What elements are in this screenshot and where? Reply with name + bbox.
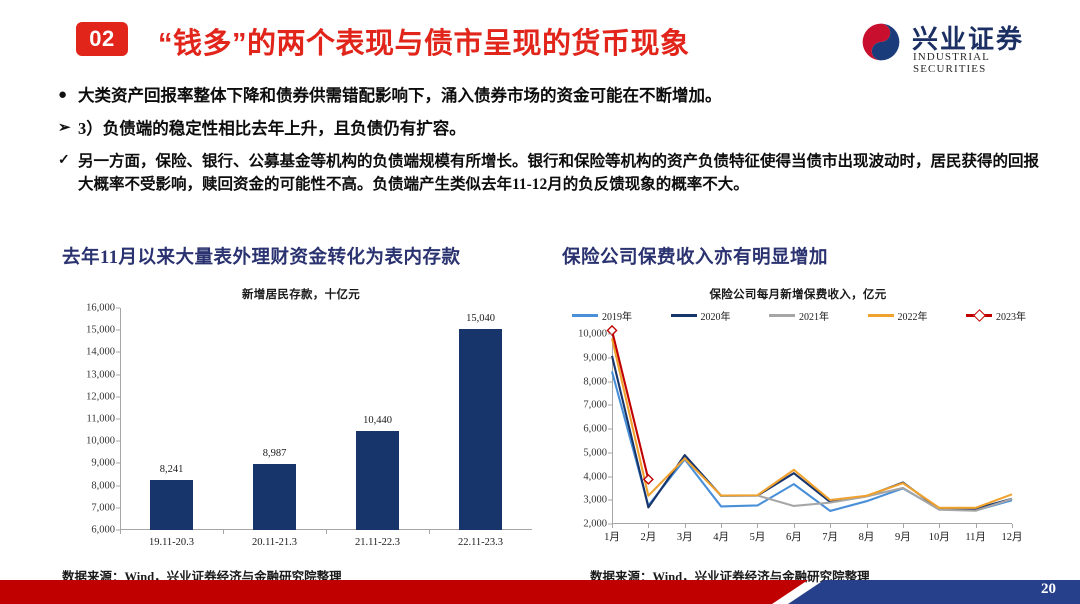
line-chart-plot-area: 2,0003,0004,0005,0006,0007,0008,0009,000…: [612, 334, 1012, 524]
page-number: 20: [1041, 581, 1056, 598]
line-chart-y-tick-mark: [608, 381, 612, 382]
line-chart-y-tick-label: 6,000: [583, 424, 607, 435]
legend-label: 2019年: [602, 308, 632, 323]
line-chart-x-tick-mark: [612, 524, 613, 528]
line-series-2019年: [612, 372, 1012, 511]
legend-label: 2023年: [996, 308, 1026, 323]
legend-item: 2020年: [671, 308, 731, 323]
bar: [253, 464, 296, 530]
bar-chart-y-tick-mark: [116, 507, 120, 508]
bar-chart-y-tick-label: 16,000: [86, 303, 115, 314]
deposits-bar-chart: 新增居民存款，十亿元 6,0007,0008,0009,00010,00011,…: [58, 282, 544, 560]
bar-chart-y-tick-label: 15,000: [86, 325, 115, 336]
bar-chart-x-tick-label: 20.11-21.3: [252, 537, 297, 548]
bar-value-label: 10,440: [363, 415, 392, 426]
line-chart-y-tick-mark: [608, 476, 612, 477]
line-chart-y-tick-label: 10,000: [578, 329, 607, 340]
line-chart-x-tick-label: 9月: [895, 529, 911, 544]
line-chart-y-tick-label: 4,000: [583, 471, 607, 482]
line-chart-x-tick-mark: [721, 524, 722, 528]
bar-chart-y-tick-mark: [116, 330, 120, 331]
bar: [459, 329, 502, 530]
footer-band: [0, 580, 1080, 604]
line-chart-x-tick-mark: [976, 524, 977, 528]
bar-value-label: 8,241: [160, 464, 184, 475]
bar-chart-y-tick-label: 12,000: [86, 391, 115, 402]
bullet-text: 另一方面，保险、银行、公募基金等机构的负债端规模有所增长。银行和保险等机构的资产…: [78, 150, 1043, 197]
bar: [150, 480, 193, 530]
line-chart-x-tick-label: 1月: [604, 529, 620, 544]
bar-chart-y-axis: [120, 308, 121, 530]
legend-item: 2021年: [769, 308, 829, 323]
line-chart-y-tick-label: 3,000: [583, 495, 607, 506]
line-chart-x-tick-mark: [685, 524, 686, 528]
bar-chart-y-tick-mark: [116, 419, 120, 420]
bar-value-label: 8,987: [263, 448, 287, 459]
line-chart-x-tick-label: 10月: [929, 529, 950, 544]
line-chart-x-tick-mark: [867, 524, 868, 528]
line-chart-x-tick-label: 5月: [750, 529, 766, 544]
line-chart-x-tick-label: 12月: [1002, 529, 1023, 544]
bullet-item: ● 大类资产回报率整体下降和债券供需错配影响下，涌入债券市场的资金可能在不断增加…: [58, 84, 1058, 108]
line-chart-x-tick-mark: [648, 524, 649, 528]
bar-chart-x-tick-mark: [120, 530, 121, 534]
line-series-2022年: [612, 338, 1012, 508]
line-chart-legend: 2019年2020年2021年2022年2023年: [564, 308, 1034, 323]
bar-chart-y-tick-mark: [116, 485, 120, 486]
logo-text-en: INDUSTRIAL SECURITIES: [913, 51, 1060, 75]
line-chart-y-tick-mark: [608, 334, 612, 335]
line-chart-y-tick-mark: [608, 452, 612, 453]
legend-item: 2019年: [572, 308, 632, 323]
bar-chart-y-tick-label: 9,000: [91, 458, 115, 469]
page-title: “钱多”的两个表现与债市呈现的货币现象: [158, 20, 690, 62]
bullet-item: ✓ 另一方面，保险、银行、公募基金等机构的负债端规模有所增长。银行和保险等机构的…: [58, 150, 1058, 197]
right-chart-heading: 保险公司保费收入亦有明显增加: [562, 243, 828, 269]
bar-chart-y-tick-mark: [116, 441, 120, 442]
legend-color-swatch: [572, 314, 598, 317]
line-chart-x-tick-mark: [939, 524, 940, 528]
bar-chart-x-tick-mark: [223, 530, 224, 534]
line-chart-y-tick-label: 2,000: [583, 519, 607, 530]
brand-mark-icon: [860, 21, 902, 63]
line-chart-caption: 保险公司每月新增保费收入，亿元: [558, 286, 1038, 302]
legend-label: 2021年: [799, 308, 829, 323]
bar-chart-y-tick-label: 10,000: [86, 436, 115, 447]
line-chart-x-tick-label: 7月: [822, 529, 838, 544]
bar-chart-y-tick-label: 11,000: [87, 414, 116, 425]
bullet-item: ➢ 3）负债端的稳定性相比去年上升，且负债仍有扩容。: [58, 117, 1058, 141]
bar-chart-x-tick-label: 19.11-20.3: [149, 537, 194, 548]
line-chart-y-tick-mark: [608, 405, 612, 406]
legend-label: 2020年: [701, 308, 731, 323]
line-chart-x-tick-label: 2月: [640, 529, 656, 544]
line-chart-x-tick-mark: [830, 524, 831, 528]
bar: [356, 431, 399, 530]
line-chart-x-tick-mark: [903, 524, 904, 528]
line-chart-x-tick-label: 8月: [859, 529, 875, 544]
bar-chart-y-tick-label: 7,000: [91, 502, 115, 513]
slide-header: 02 “钱多”的两个表现与债市呈现的货币现象 兴业证券 INDUSTRIAL S…: [0, 0, 1080, 76]
legend-color-swatch: [966, 314, 992, 317]
line-chart-y-tick-label: 7,000: [583, 400, 607, 411]
bar-chart-x-tick-mark: [326, 530, 327, 534]
legend-item: 2023年: [966, 308, 1026, 323]
bar-chart-x-tick-mark: [429, 530, 430, 534]
line-chart-y-tick-label: 5,000: [583, 447, 607, 458]
line-chart-x-tick-mark: [1012, 524, 1013, 528]
bullet-marker-disc-icon: ●: [58, 84, 78, 105]
bar-chart-y-tick-label: 13,000: [86, 369, 115, 380]
line-chart-x-tick-label: 4月: [713, 529, 729, 544]
line-chart-x-tick-mark: [794, 524, 795, 528]
line-chart-x-tick-label: 11月: [965, 529, 986, 544]
left-chart-heading: 去年11月以来大量表外理财资金转化为表内存款: [62, 243, 460, 269]
bar-chart-y-tick-mark: [116, 308, 120, 309]
company-logo: 兴业证券 INDUSTRIAL SECURITIES: [860, 18, 1060, 66]
line-chart-y-tick-label: 8,000: [583, 376, 607, 387]
slide-footer: 20: [0, 580, 1080, 604]
bar-chart-x-tick-label: 22.11-23.3: [458, 537, 503, 548]
bar-chart-y-tick-mark: [116, 396, 120, 397]
bar-chart-caption: 新增居民存款，十亿元: [58, 286, 544, 302]
line-chart-x-tick-mark: [757, 524, 758, 528]
bar-value-label: 15,040: [466, 313, 495, 324]
bullet-marker-arrow-icon: ➢: [58, 117, 78, 138]
bar-chart-y-tick-label: 8,000: [91, 480, 115, 491]
legend-color-swatch: [769, 314, 795, 317]
bullet-text: 大类资产回报率整体下降和债券供需错配影响下，涌入债券市场的资金可能在不断增加。: [78, 84, 722, 108]
bar-chart-y-tick-label: 14,000: [86, 347, 115, 358]
line-chart-y-tick-mark: [608, 500, 612, 501]
bar-chart-plot-area: 6,0007,0008,0009,00010,00011,00012,00013…: [120, 308, 532, 530]
line-chart-y-tick-label: 9,000: [583, 352, 607, 363]
line-chart-x-tick-label: 3月: [677, 529, 693, 544]
slide: 02 “钱多”的两个表现与债市呈现的货币现象 兴业证券 INDUSTRIAL S…: [0, 0, 1080, 604]
bullet-list: ● 大类资产回报率整体下降和债券供需错配影响下，涌入债券市场的资金可能在不断增加…: [58, 84, 1058, 205]
legend-color-swatch: [868, 314, 894, 317]
bar-chart-y-tick-label: 6,000: [91, 525, 115, 536]
line-chart-y-tick-mark: [608, 429, 612, 430]
legend-item: 2022年: [868, 308, 928, 323]
bar-chart-y-tick-mark: [116, 352, 120, 353]
line-chart-y-tick-mark: [608, 357, 612, 358]
section-number-badge: 02: [76, 22, 128, 56]
line-chart-series-layer: [612, 334, 1012, 524]
bullet-marker-check-icon: ✓: [58, 150, 78, 171]
line-series-2023年: [612, 330, 648, 479]
premium-income-line-chart: 保险公司每月新增保费收入，亿元 2019年2020年2021年2022年2023…: [558, 282, 1038, 560]
legend-label: 2022年: [898, 308, 928, 323]
bar-chart-x-tick-label: 21.11-22.3: [355, 537, 400, 548]
line-chart-x-tick-label: 6月: [786, 529, 802, 544]
legend-color-swatch: [671, 314, 697, 317]
bar-chart-y-tick-mark: [116, 374, 120, 375]
bar-chart-y-tick-mark: [116, 463, 120, 464]
bullet-text: 3）负债端的稳定性相比去年上升，且负债仍有扩容。: [78, 117, 466, 141]
